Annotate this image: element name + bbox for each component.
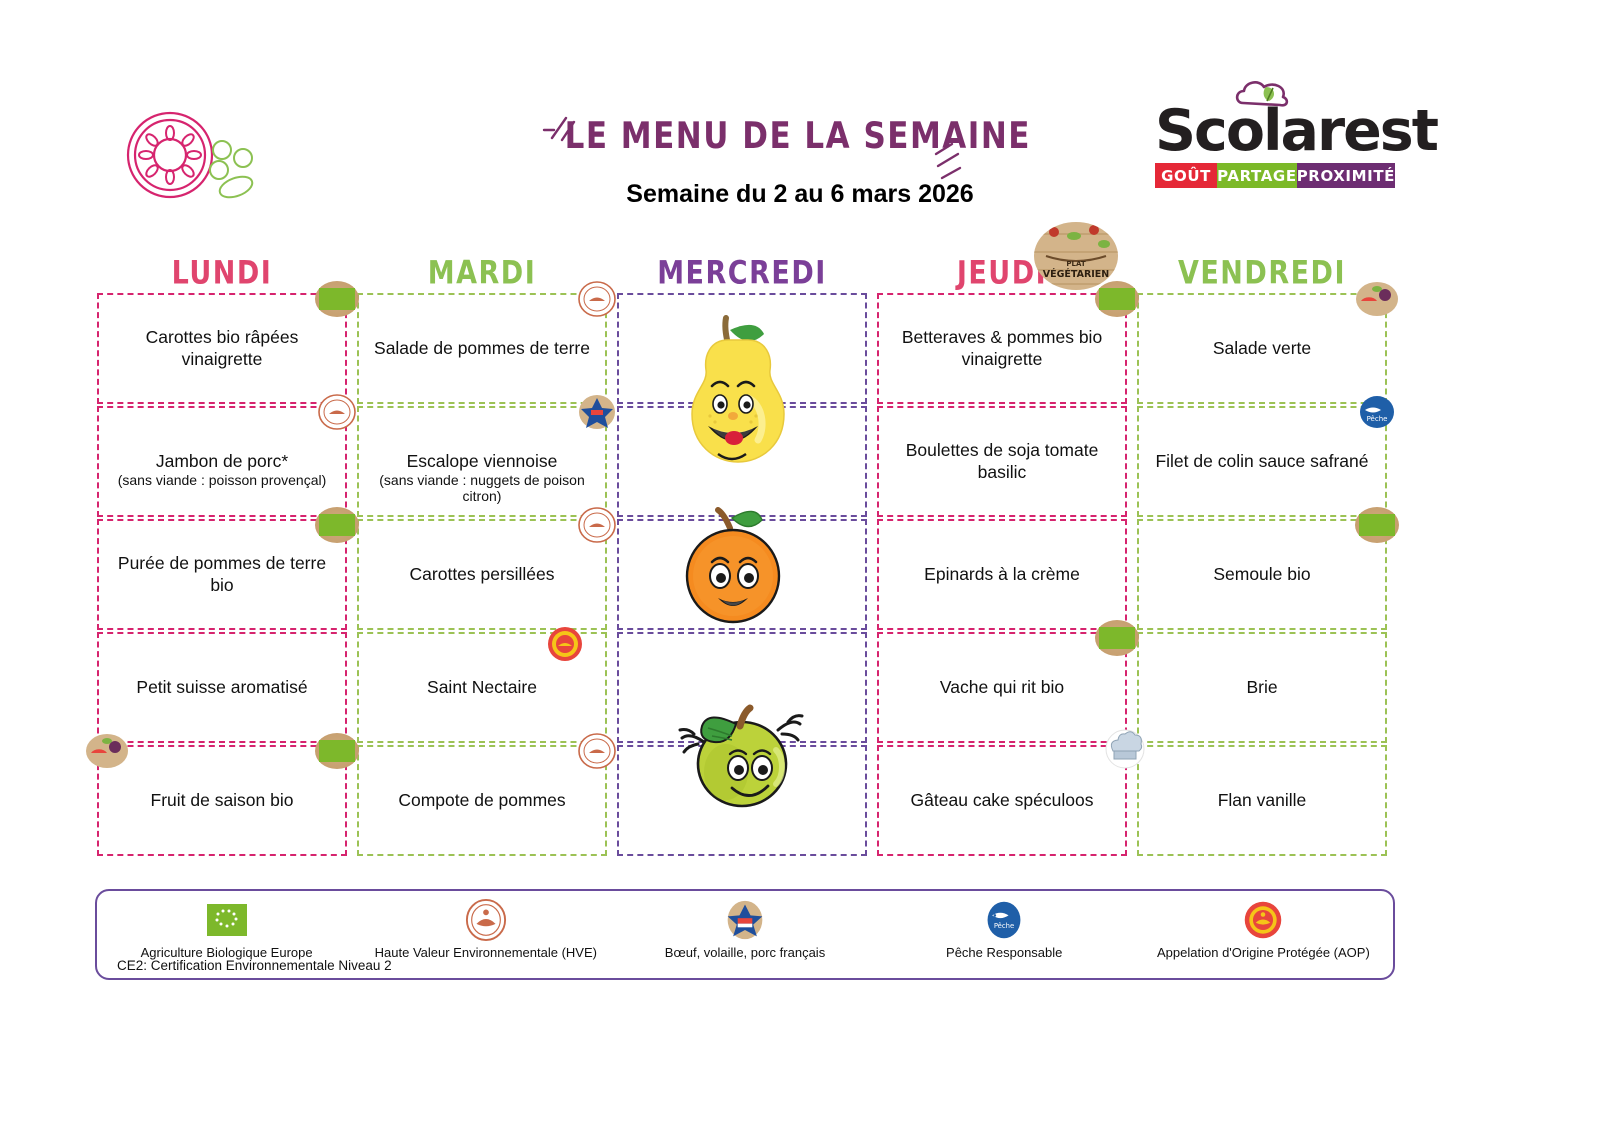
menu-item-label: Escalope viennoise: [407, 451, 558, 473]
ab-organic-icon: [315, 507, 359, 543]
plat-vegetarien-badge: PLAT VÉGÉTARIEN: [1032, 222, 1120, 290]
menu-cell: [617, 519, 867, 630]
menu-column-mardi: Salade de pommes de terre Escalope vienn…: [352, 292, 612, 857]
legend-note: CE2: Certification Environnementale Nive…: [117, 958, 392, 973]
day-header-vendredi: VENDREDI: [1132, 255, 1392, 292]
brand-tagline: GOÛT PARTAGE PROXIMITÉ: [1155, 163, 1395, 188]
menu-cell: Escalope viennoise(sans viande : nuggets…: [357, 406, 607, 517]
menu-item-label: Salade de pommes de terre: [374, 338, 590, 360]
aop-icon: [543, 626, 587, 662]
ab-organic-icon: [1355, 507, 1399, 543]
menu-item-label: Compote de pommes: [398, 790, 565, 812]
menu-cell: Boulettes de soja tomate basilic: [877, 406, 1127, 517]
hve-icon: [356, 899, 615, 941]
menu-item-label: Vache qui rit bio: [940, 677, 1064, 699]
aop-icon: [1134, 899, 1393, 941]
menu-column-lundi: Carottes bio râpées vinaigrette Jambon d…: [92, 292, 352, 857]
veg-badge-line2: VÉGÉTARIEN: [1043, 268, 1110, 280]
menu-cell: Jambon de porc*(sans viande : poisson pr…: [97, 406, 347, 517]
fait-maison-chef-hat-icon: [1103, 729, 1147, 765]
legend-item-viande: Bœuf, volaille, porc français: [615, 899, 874, 960]
menu-item-label: Fruit de saison bio: [151, 790, 294, 812]
menu-item-label: Filet de colin sauce safrané: [1155, 451, 1368, 473]
cloud-leaf-icon: [1233, 77, 1293, 111]
day-header-mardi: MARDI: [352, 255, 612, 292]
menu-cell: Carottes persillées: [357, 519, 607, 630]
day-header-mercredi: MERCREDI: [612, 255, 872, 292]
legend-item-aop: Appelation d'Origine Protégée (AOP): [1134, 899, 1393, 960]
menu-column-jeudi: Betteraves & pommes bio vinaigrette Boul…: [872, 292, 1132, 857]
veg-badge-line1: PLAT: [1066, 260, 1085, 268]
menu-cell: Flan vanille: [1137, 745, 1387, 856]
legend-item-ab: Agriculture Biologique Europe: [97, 899, 356, 960]
legend-label: Bœuf, volaille, porc français: [615, 945, 874, 960]
menu-item-label: Carottes bio râpées vinaigrette: [113, 327, 331, 371]
day-headers: LUNDI MARDI MERCREDI JEUDI VENDREDI: [92, 258, 1392, 289]
tagline-gout: GOÛT: [1155, 163, 1217, 188]
hve-icon: [575, 507, 619, 543]
menu-cell: Brie: [1137, 632, 1387, 743]
hve-icon: [575, 281, 619, 317]
menu-cell: Fruit de saison bio: [97, 745, 347, 856]
peche-icon: Pêche: [875, 899, 1134, 941]
menu-cell: Purée de pommes de terre bio: [97, 519, 347, 630]
viande-france-icon: [615, 899, 874, 941]
menu-cell: Vache qui rit bio: [877, 632, 1127, 743]
legend-label: Appelation d'Origine Protégée (AOP): [1134, 945, 1393, 960]
day-header-lundi: LUNDI: [92, 255, 352, 292]
menu-cell: Gâteau cake spéculoos: [877, 745, 1127, 856]
viande-france-icon: [575, 394, 619, 430]
menu-item-label: Brie: [1246, 677, 1277, 699]
ab-organic-icon: [97, 899, 356, 941]
menu-cell: [617, 745, 867, 856]
svg-text:Pêche: Pêche: [994, 922, 1014, 930]
menu-item-label: Semoule bio: [1213, 564, 1310, 586]
ab-organic-icon: [315, 733, 359, 769]
menu-column-vendredi: Salade verte Filet de colin sauce safran…: [1132, 292, 1392, 857]
fruit-saison-icon: [1355, 281, 1399, 317]
legend-box: Agriculture Biologique Europe Haute Vale…: [95, 889, 1395, 980]
menu-item-label: Purée de pommes de terre bio: [113, 553, 331, 597]
menu-cell: Semoule bio: [1137, 519, 1387, 630]
menu-cell: [617, 632, 867, 743]
hve-icon: [315, 394, 359, 430]
menu-item-label: Saint Nectaire: [427, 677, 537, 699]
menu-cell: [617, 406, 867, 517]
menu-cell: [617, 293, 867, 404]
brand-name: Scolarest: [1155, 103, 1395, 160]
menu-cell: Carottes bio râpées vinaigrette: [97, 293, 347, 404]
menu-cell: Filet de colin sauce safranéPêche: [1137, 406, 1387, 517]
menu-cell: Salade de pommes de terre: [357, 293, 607, 404]
ab-organic-icon: [1095, 620, 1139, 656]
menu-item-label: Salade verte: [1213, 338, 1311, 360]
sparkle-left-icon: [540, 108, 590, 148]
menu-item-label: Betteraves & pommes bio vinaigrette: [893, 327, 1111, 371]
menu-cell: Betteraves & pommes bio vinaigrette: [877, 293, 1127, 404]
menu-cell: Compote de pommes: [357, 745, 607, 856]
menu-item-label: Jambon de porc*: [156, 451, 288, 473]
menu-item-label: Epinards à la crème: [924, 564, 1080, 586]
legend-label: Pêche Responsable: [875, 945, 1134, 960]
menu-cell: Petit suisse aromatisé: [97, 632, 347, 743]
menu-item-label: Flan vanille: [1218, 790, 1307, 812]
menu-item-label: Petit suisse aromatisé: [136, 677, 307, 699]
tagline-partage: PARTAGE: [1217, 163, 1297, 188]
fruit-saison-icon: [85, 733, 129, 769]
scolarest-logo: Scolarest GOÛT PARTAGE PROXIMITÉ: [1155, 103, 1395, 188]
svg-text:Pêche: Pêche: [1367, 415, 1388, 423]
legend-label: Haute Valeur Environnementale (HVE): [356, 945, 615, 960]
menu-item-sublabel: (sans viande : nuggets de poison citron): [359, 472, 605, 504]
menu-item-label: Carottes persillées: [410, 564, 555, 586]
tagline-proximite: PROXIMITÉ: [1297, 163, 1395, 188]
menu-cell: Saint Nectaire: [357, 632, 607, 743]
menu-item-label: Boulettes de soja tomate basilic: [893, 440, 1111, 484]
menu-cell: Salade verte: [1137, 293, 1387, 404]
menu-cell: Epinards à la crème: [877, 519, 1127, 630]
hve-icon: [575, 733, 619, 769]
menu-item-sublabel: (sans viande : poisson provençal): [99, 472, 345, 488]
ab-organic-icon: [315, 281, 359, 317]
page-header: LE MENU DE LA SEMAINE Semaine du 2 au 6 …: [0, 0, 1600, 235]
menu-grid: Carottes bio râpées vinaigrette Jambon d…: [92, 292, 1392, 857]
legend-item-hve: Haute Valeur Environnementale (HVE): [356, 899, 615, 960]
menu-item-label: Gâteau cake spéculoos: [911, 790, 1094, 812]
legend-item-peche: Pêche Pêche Responsable: [875, 899, 1134, 960]
menu-column-mercredi: [612, 292, 872, 857]
sparkle-right-icon: [928, 140, 983, 185]
peche-responsable-icon: Pêche: [1355, 394, 1399, 430]
